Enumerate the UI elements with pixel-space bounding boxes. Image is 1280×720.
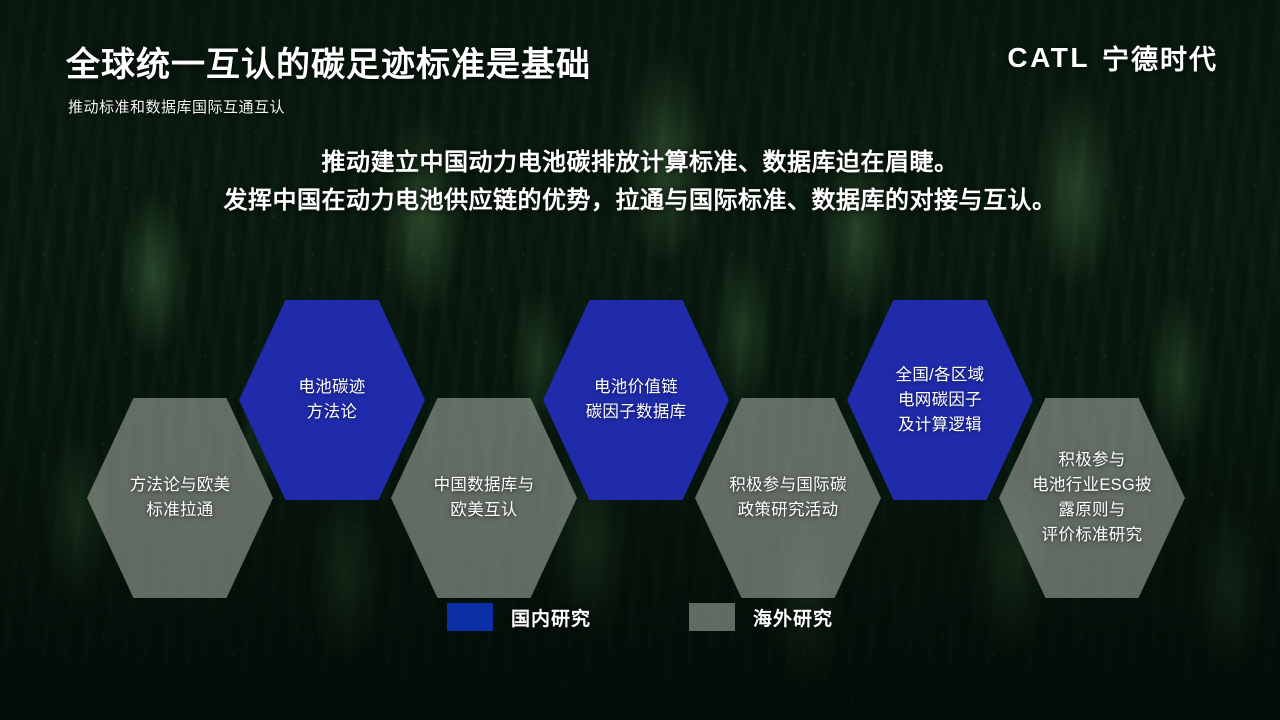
hexagon-1-overseas[interactable]: 方法论与欧美标准拉通 [87,398,273,598]
hexagon-label-line: 露原则与 [1032,498,1152,523]
hexagon-label-line: 电池价值链 [586,375,687,400]
hexagon-label-line: 方法论与欧美 [130,473,231,498]
hexagon-label-line: 评价标准研究 [1032,523,1152,548]
legend-item-overseas: 海外研究 [689,603,833,631]
legend-swatch-domestic [447,603,493,631]
hexagon-label-line: 政策研究活动 [729,498,847,523]
hexagon-label-line: 全国/各区域 [896,363,985,388]
hexagon-2-domestic[interactable]: 电池碳迹方法论 [239,300,425,500]
legend-label: 国内研究 [511,604,591,631]
hexagon-7-overseas[interactable]: 积极参与电池行业ESG披露原则与评价标准研究 [999,398,1185,598]
hexagon-label-line: 欧美互认 [434,498,535,523]
hexagon-label: 电池碳迹方法论 [298,375,365,425]
hexagon-4-domestic[interactable]: 电池价值链碳因子数据库 [543,300,729,500]
legend-label: 海外研究 [753,604,833,631]
hexagon-label-line: 方法论 [298,400,365,425]
hexagon-label: 积极参与国际碳政策研究活动 [729,473,847,523]
hexagon-label-line: 电网碳因子 [896,388,985,413]
hexagon-label: 中国数据库与欧美互认 [434,473,535,523]
hexagon-label-line: 电池碳迹 [298,375,365,400]
hexagon-label: 方法论与欧美标准拉通 [130,473,231,523]
slide-canvas: 全球统一互认的碳足迹标准是基础 推动标准和数据库国际互通互认 CATL 宁德时代… [0,0,1280,720]
hexagon-label-line: 电池行业ESG披 [1032,473,1152,498]
hexagon-label-line: 中国数据库与 [434,473,535,498]
legend-item-domestic: 国内研究 [447,603,591,631]
hexagon-label: 全国/各区域电网碳因子及计算逻辑 [896,363,985,438]
hexagon-label-line: 碳因子数据库 [586,400,687,425]
hexagon-5-overseas[interactable]: 积极参与国际碳政策研究活动 [695,398,881,598]
hexagon-3-overseas[interactable]: 中国数据库与欧美互认 [391,398,577,598]
hexagon-label: 电池价值链碳因子数据库 [586,375,687,425]
legend-swatch-overseas [689,603,735,631]
hexagon-label: 积极参与电池行业ESG披露原则与评价标准研究 [1032,448,1152,548]
hexagon-label-line: 积极参与 [1032,448,1152,473]
hexagon-6-domestic[interactable]: 全国/各区域电网碳因子及计算逻辑 [847,300,1033,500]
hexagon-label-line: 标准拉通 [130,498,231,523]
hexagon-label-line: 积极参与国际碳 [729,473,847,498]
legend: 国内研究海外研究 [0,603,1280,631]
hexagon-label-line: 及计算逻辑 [896,413,985,438]
